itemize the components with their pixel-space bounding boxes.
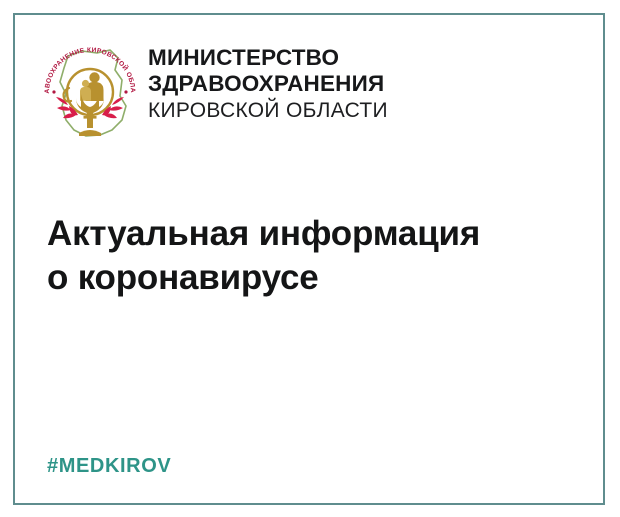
emblem-stem <box>87 112 93 128</box>
poster-canvas: ЗДРАВООХРАНЕНИЕ КИРОВСКОЙ ОБЛАСТИ <box>0 0 620 517</box>
emblem-base <box>79 130 101 136</box>
kirov-health-ministry-emblem-icon: ЗДРАВООХРАНЕНИЕ КИРОВСКОЙ ОБЛАСТИ <box>42 40 138 142</box>
page-title: Актуальная информация о коронавирусе <box>47 212 567 300</box>
ministry-name-line-1: МИНИСТЕРСТВО <box>148 45 388 71</box>
hashtag-medkirov: #MEDKIROV <box>47 454 171 478</box>
ministry-wordmark: МИНИСТЕРСТВО ЗДРАВООХРАНЕНИЯ КИРОВСКОЙ О… <box>148 40 388 124</box>
emblem-figures <box>80 72 104 101</box>
page-title-line-1: Актуальная информация <box>47 212 567 256</box>
ministry-logo-lockup: ЗДРАВООХРАНЕНИЕ КИРОВСКОЙ ОБЛАСТИ <box>42 40 388 142</box>
page-title-line-2: о коронавирусе <box>47 256 567 300</box>
ministry-name-line-3: КИРОВСКОЙ ОБЛАСТИ <box>148 98 388 124</box>
ministry-name-line-2: ЗДРАВООХРАНЕНИЯ <box>148 71 388 97</box>
